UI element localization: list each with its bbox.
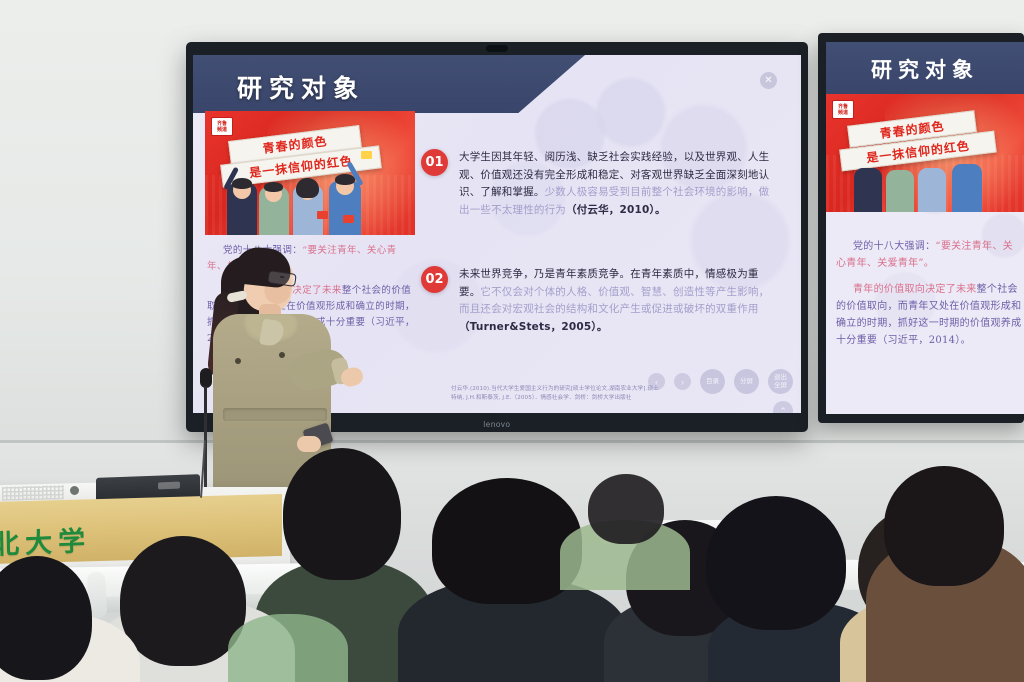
point-number-badge: 02 [421,266,448,293]
poster-illustration: 齐鲁 频道 青春的颜色 是一抹信仰的红色 [205,111,415,235]
secondary-display: 研究对象 齐鲁 频道 青春的颜色 是一抹信仰的红色 [818,33,1024,423]
channel-logo-line2: 频道 [217,127,227,133]
channel-logo: 齐鲁 频道 [211,117,233,136]
point-number-badge: 01 [421,149,448,176]
exit-fullscreen-line2: 全屏 [774,381,787,389]
poster-figure-2-hair [264,182,283,192]
point-text: 未来世界竞争，乃是青年素质竞争。在青年素质中，情感极为重要。它不仅会对个体的人格… [459,266,777,336]
poster-figure-3-hair [296,178,319,198]
audience-member-shoulders [228,614,348,682]
presenter-holding-hand [297,436,321,452]
close-icon[interactable]: ✕ [760,72,777,89]
presenter-coat-button [235,358,241,364]
secondary-quote-paragraph-2: 青年的价值取向决定了未来整个社会的价值取向，而青年又处在价值观形成和确立的时期，… [836,281,1022,349]
poster-flag-icon-3 [343,215,354,223]
secondary-figure-4 [952,164,982,212]
presenter-belt [223,408,327,421]
point-text-faded: 它不仅会对个体的人格、价值观、智慧、创造性等产生影响，而且还会对宏观社会的结构和… [459,286,769,316]
poster-figure-4-hair [335,174,355,185]
audience-member-head [884,466,1004,586]
secondary-figure-3 [918,168,946,212]
secondary-quote-part2-highlight: 青年的价值取向决定了未来 [853,284,977,295]
split-screen-button[interactable]: 分屏 [734,369,759,394]
slide-title: 研究对象 [237,69,365,105]
poster-flag-icon-2 [317,211,328,219]
point-text: 大学生因其年轻、阅历浅、缺乏社会实践经验，以及世界观、人生观、价值观还没有完全形… [459,149,777,219]
presenter-coat-button [279,352,285,358]
point-citation: （付云华，2010）。 [566,204,666,216]
camera-icon [486,45,508,52]
lectern-monitor-glare [158,482,180,490]
slide-toolbar[interactable]: ‹ › 目录 分屏 退出 全屏 [648,369,793,394]
slide-point-02: 02 未来世界竞争，乃是青年素质竞争。在青年素质中，情感极为重要。它不仅会对个体… [421,266,777,336]
secondary-poster: 齐鲁 频道 青春的颜色 是一抹信仰的红色 [826,94,1024,212]
secondary-quote-paragraph-1: 党的十八大强调：“要关注青年、关心青年、关爱青年”。 [836,238,1022,272]
point-citation: （Turner&Stets，2005）。 [459,321,608,333]
exit-fullscreen-button[interactable]: 退出 全屏 [768,369,793,394]
microphone-icon [200,368,212,388]
secondary-figure-1 [854,168,882,212]
slide-point-01: 01 大学生因其年轻、阅历浅、缺乏社会实践经验，以及世界观、人生观、价值观还没有… [421,149,777,219]
audience-member-head [588,474,664,544]
next-slide-icon[interactable]: › [674,373,691,390]
secondary-logo-line2: 频道 [838,110,848,116]
poster-figure-1-hair [232,178,252,189]
lectern-speaker-grille [2,485,64,501]
secondary-slide-title: 研究对象 [826,54,1024,84]
secondary-display-screen[interactable]: 研究对象 齐鲁 频道 青春的颜色 是一抹信仰的红色 [826,42,1024,414]
secondary-channel-logo: 齐鲁 频道 [832,100,854,119]
reference-item: 特纳, J.H.和斯泰茨, J.E.（2005）．情感社会学．剑桥：剑桥大学出版… [451,394,781,403]
poster-flag-icon [361,151,372,159]
lecture-hall-scene: lenovo 研究对象 ✕ 齐鲁 频道 青春的颜色 [0,0,1024,682]
secondary-quote-part1-plain: 党的十八大强调： [853,241,935,252]
lectern-control-knob[interactable] [70,486,79,495]
contents-button[interactable]: 目录 [700,369,725,394]
prev-slide-icon[interactable]: ‹ [648,373,665,390]
audience-member-head [706,496,846,630]
audience-member-head [283,448,401,580]
display-brand-logo: lenovo [483,420,510,429]
secondary-quote-block: 党的十八大强调：“要关注青年、关心青年、关爱青年”。 青年的价值取向决定了未来整… [836,238,1022,358]
secondary-figure-2 [886,170,914,212]
